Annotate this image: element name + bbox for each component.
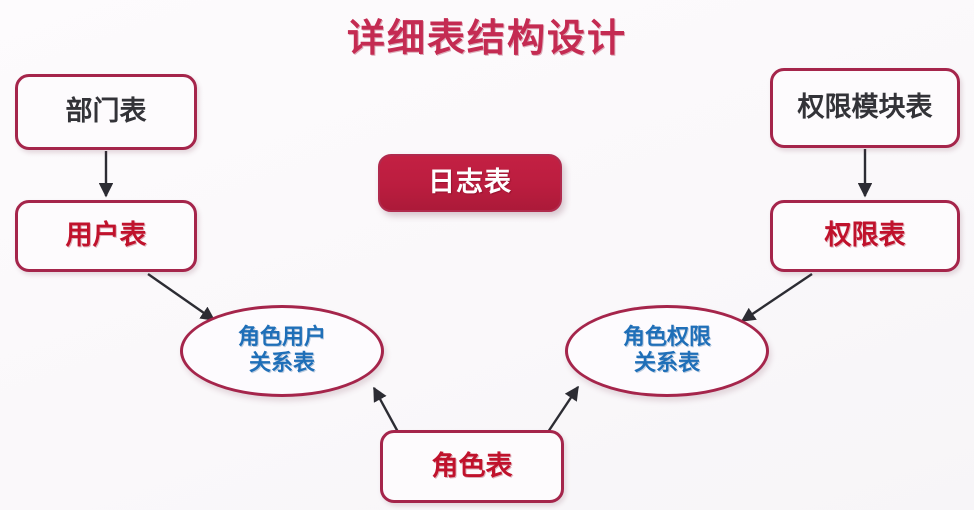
node-label: 日志表 — [428, 167, 512, 198]
node-department-table[interactable]: 部门表 — [15, 74, 197, 150]
edge-role-to-roleuser — [374, 388, 398, 432]
page-title: 详细表结构设计 — [0, 7, 974, 62]
node-label-line1: 角色用户 — [238, 325, 326, 351]
node-role-permission-relation-table[interactable]: 角色权限 关系表 — [565, 305, 769, 397]
node-log-table[interactable]: 日志表 — [378, 154, 562, 212]
node-label: 权限模块表 — [798, 92, 933, 123]
node-label: 权限表 — [825, 220, 906, 251]
node-label-line2: 关系表 — [634, 351, 700, 377]
node-label-line1: 角色权限 — [623, 325, 711, 351]
node-role-table[interactable]: 角色表 — [380, 430, 564, 503]
edge-user-to-roleuser — [148, 274, 214, 320]
edge-role-to-roleperm — [548, 387, 578, 432]
edge-perm-to-roleperm — [742, 274, 812, 321]
node-label: 部门表 — [66, 96, 147, 127]
node-role-user-relation-table[interactable]: 角色用户 关系表 — [180, 305, 384, 397]
diagram-canvas: 详细表结构设计 部门表 用户表 权限模块表 权限表 日志表 角色用户 关系表 角… — [0, 0, 974, 510]
node-label: 角色表 — [432, 451, 513, 482]
node-permission-module-table[interactable]: 权限模块表 — [770, 68, 960, 148]
node-label: 用户表 — [66, 220, 147, 251]
node-user-table[interactable]: 用户表 — [15, 200, 197, 272]
node-permission-table[interactable]: 权限表 — [770, 200, 960, 272]
node-label-line2: 关系表 — [249, 351, 315, 377]
